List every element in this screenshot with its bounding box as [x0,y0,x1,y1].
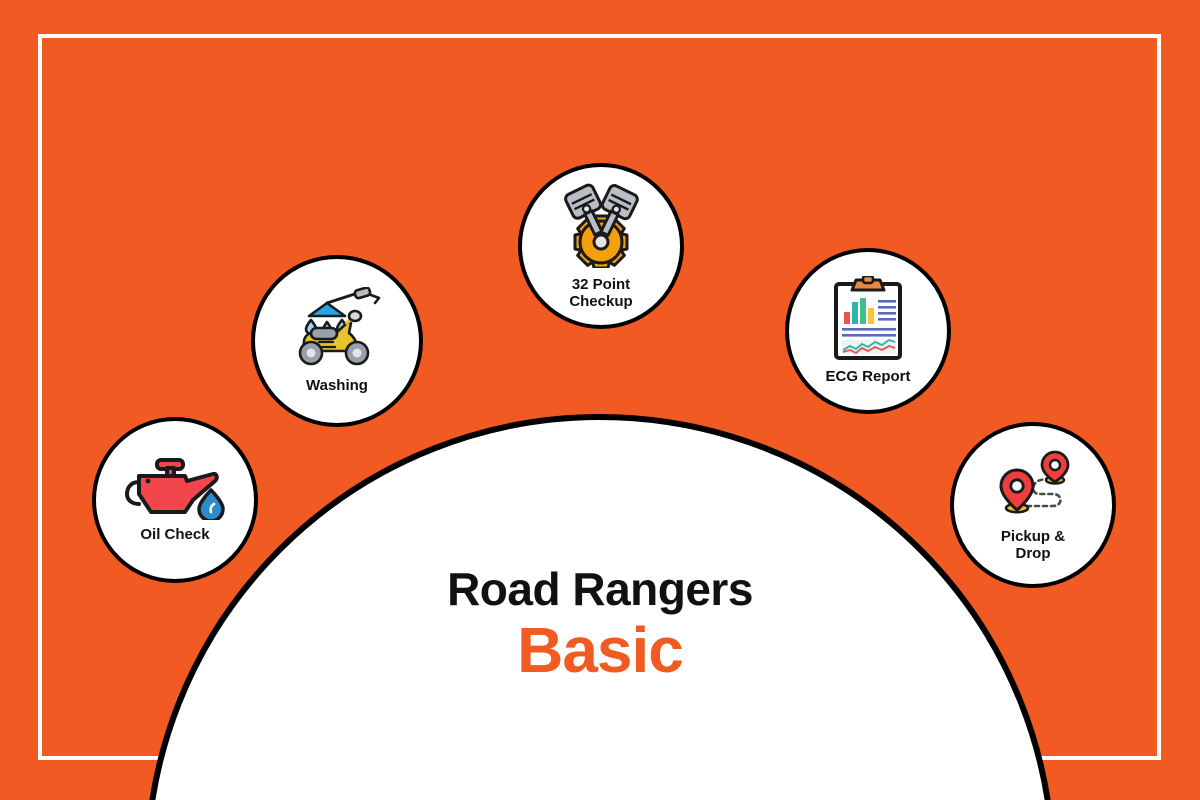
oil-can-icon [123,456,227,520]
service-label: ECG Report [825,368,910,385]
service-label: 32 Point Checkup [569,276,632,311]
service-bubble-ecg-report[interactable]: ECG Report [785,248,951,414]
service-label: Pickup & Drop [1001,528,1065,563]
service-bubble-washing[interactable]: Washing [251,255,423,427]
service-label: Oil Check [140,526,209,543]
map-pins-route-icon [987,448,1079,520]
pistons-gear-icon [557,182,645,268]
clipboard-report-icon [828,276,908,362]
scooter-washing-icon [289,287,385,371]
promo-poster: Road Rangers Basic Oil Check [0,0,1200,800]
service-bubble-32-point-checkup[interactable]: 32 Point Checkup [518,163,684,329]
service-bubble-oil-check[interactable]: Oil Check [92,417,258,583]
service-bubble-pickup-drop[interactable]: Pickup & Drop [950,422,1116,588]
service-label: Washing [306,377,368,394]
plan-name: Basic [0,615,1200,687]
